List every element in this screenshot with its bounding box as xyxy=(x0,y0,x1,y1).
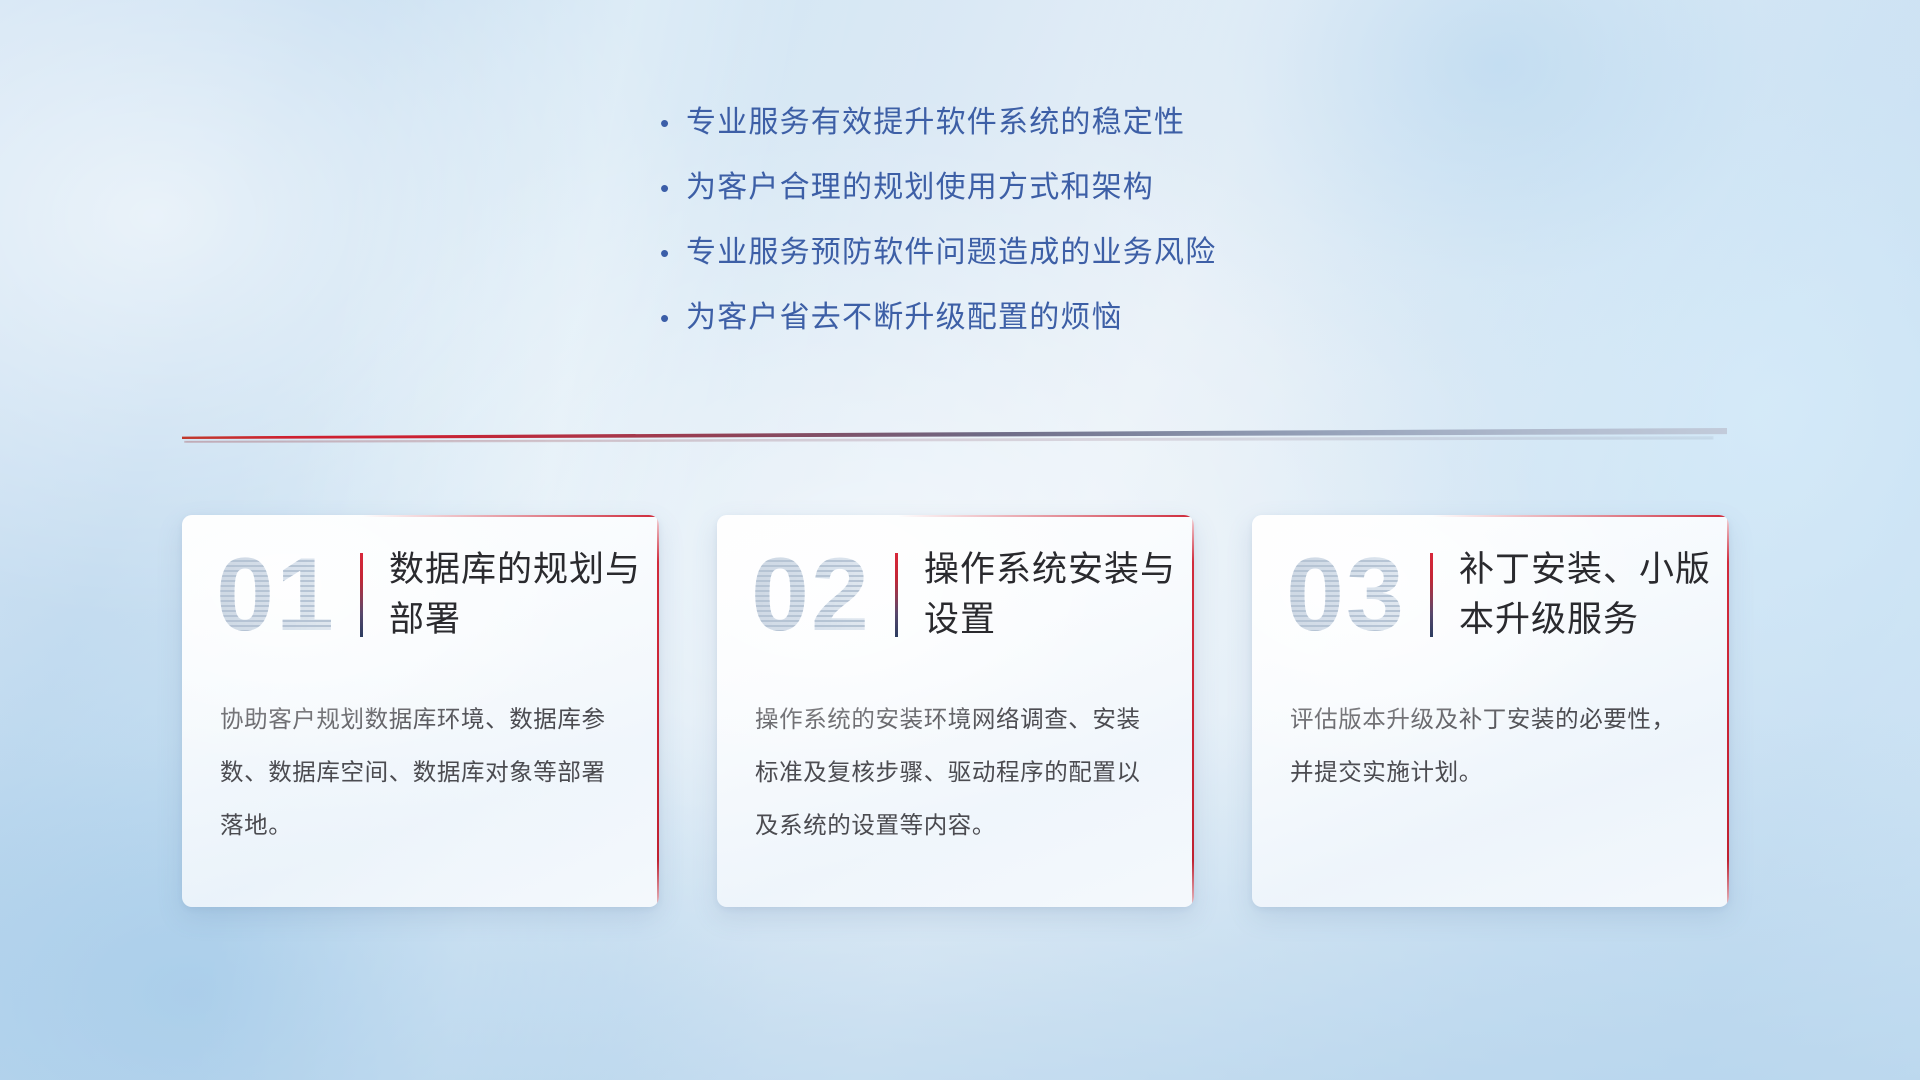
card-number: 03 xyxy=(1266,540,1426,650)
bullet-text: 专业服务预防软件问题造成的业务风险 xyxy=(686,238,1216,268)
section-divider xyxy=(182,424,1727,446)
bullet-dot-icon: • xyxy=(660,175,686,201)
slide-canvas: • 专业服务有效提升软件系统的稳定性 • 为客户合理的规划使用方式和架构 • 专… xyxy=(0,0,1920,1080)
benefits-bullet-list: • 专业服务有效提升软件系统的稳定性 • 为客户合理的规划使用方式和架构 • 专… xyxy=(660,108,1480,368)
card-title: 补丁安装、小版本升级服务 xyxy=(1459,545,1729,645)
bullet-dot-icon: • xyxy=(660,305,686,331)
card-description: 协助客户规划数据库环境、数据库参数、数据库空间、数据库对象等部署落地。 xyxy=(182,675,659,852)
service-card[interactable]: 01 数据库的规划与部署 协助客户规划数据库环境、数据库参数、数据库空间、数据库… xyxy=(182,515,659,907)
list-item: • 为客户省去不断升级配置的烦恼 xyxy=(660,303,1480,368)
card-header: 02 操作系统安装与设置 xyxy=(717,515,1194,675)
list-item: • 为客户合理的规划使用方式和架构 xyxy=(660,173,1480,238)
list-item: • 专业服务预防软件问题造成的业务风险 xyxy=(660,238,1480,303)
bullet-text: 为客户省去不断升级配置的烦恼 xyxy=(686,303,1123,333)
bullet-text: 为客户合理的规划使用方式和架构 xyxy=(686,173,1154,203)
service-card[interactable]: 03 补丁安装、小版本升级服务 评估版本升级及补丁安装的必要性，并提交实施计划。 xyxy=(1252,515,1729,907)
service-card[interactable]: 02 操作系统安装与设置 操作系统的安装环境网络调查、安装标准及复核步骤、驱动程… xyxy=(717,515,1194,907)
card-number: 02 xyxy=(731,540,891,650)
bullet-dot-icon: • xyxy=(660,240,686,266)
card-number: 01 xyxy=(196,540,356,650)
service-card-group: 01 数据库的规划与部署 协助客户规划数据库环境、数据库参数、数据库空间、数据库… xyxy=(182,515,1730,907)
list-item: • 专业服务有效提升软件系统的稳定性 xyxy=(660,108,1480,173)
card-description: 评估版本升级及补丁安装的必要性，并提交实施计划。 xyxy=(1252,675,1729,799)
card-title-divider xyxy=(895,553,898,637)
card-title-divider xyxy=(360,553,363,637)
card-header: 03 补丁安装、小版本升级服务 xyxy=(1252,515,1729,675)
card-title: 数据库的规划与部署 xyxy=(389,545,659,645)
card-header: 01 数据库的规划与部署 xyxy=(182,515,659,675)
card-description: 操作系统的安装环境网络调查、安装标准及复核步骤、驱动程序的配置以及系统的设置等内… xyxy=(717,675,1194,852)
card-title: 操作系统安装与设置 xyxy=(924,545,1194,645)
bullet-dot-icon: • xyxy=(660,110,686,136)
card-title-divider xyxy=(1430,553,1433,637)
bullet-text: 专业服务有效提升软件系统的稳定性 xyxy=(686,108,1185,138)
